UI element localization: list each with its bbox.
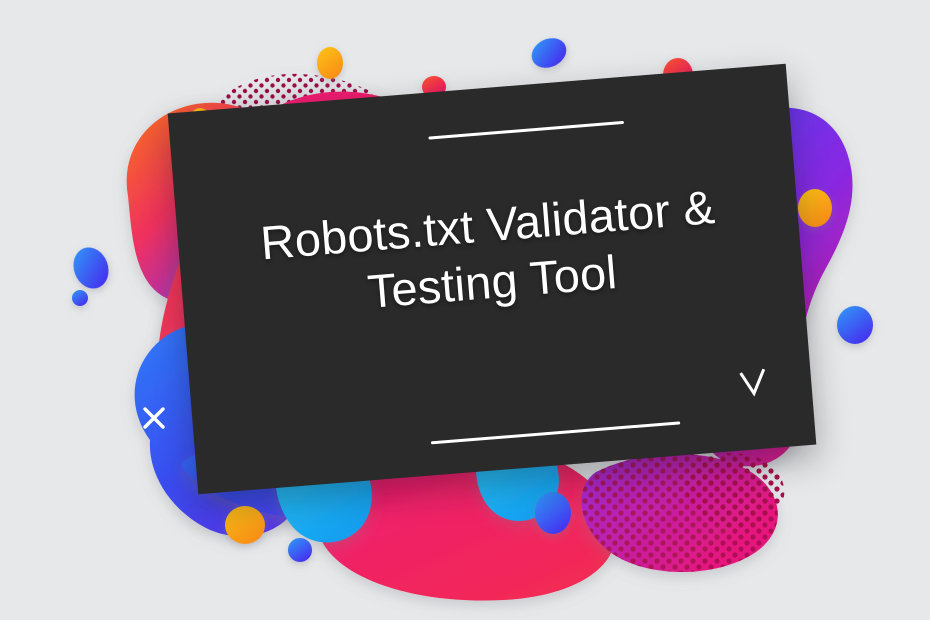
chevron-check-icon [738,368,770,400]
page-title: Robots.txt Validator & Testing Tool [176,171,803,335]
dot-cyan-bottom-center [535,492,571,534]
dot-orange-bottom-left [225,506,265,544]
poster-canvas: Robots.txt Validator & Testing Tool [0,0,930,620]
dot-blue-left-small [72,290,88,306]
dot-orange-right [798,189,832,227]
title-card: Robots.txt Validator & Testing Tool [168,64,817,494]
dot-blue-right [837,306,873,344]
dot-blue-bottom-left [288,538,312,562]
dot-orange-top-left [317,47,343,79]
card-inner: Robots.txt Validator & Testing Tool [168,64,817,494]
close-x-icon [140,404,168,432]
accent-rule-top [428,121,624,140]
accent-rule-bottom [431,421,680,444]
